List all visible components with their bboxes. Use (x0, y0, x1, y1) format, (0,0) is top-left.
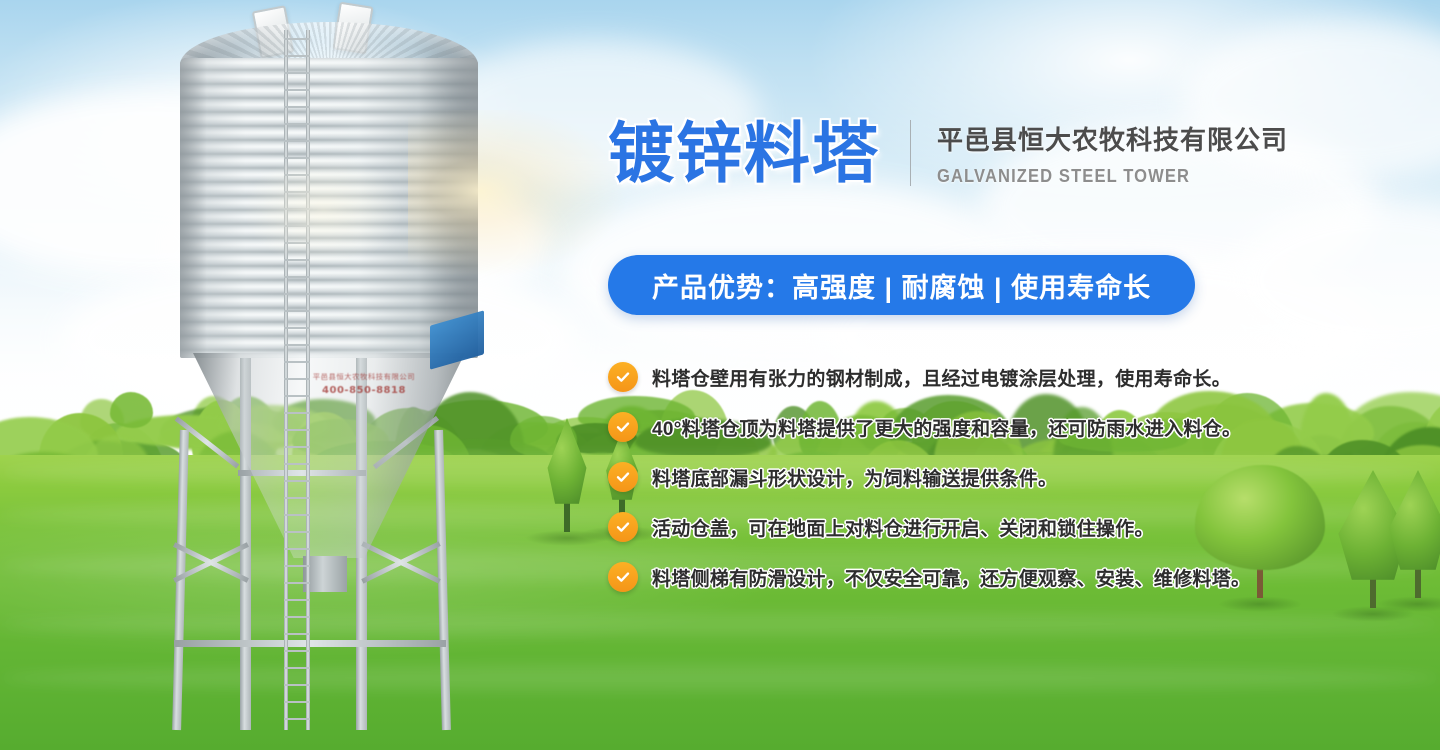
advantages-pill-text: 产品优势：高强度 | 耐腐蚀 | 使用寿命长 (652, 266, 1151, 305)
feature-item: 40°料塔仓顶为料塔提供了更大的强度和容量，还可防雨水进入料仓。 (608, 402, 1308, 452)
feature-text: 40°料塔仓顶为料塔提供了更大的强度和容量，还可防雨水进入料仓。 (652, 414, 1241, 441)
check-circle-icon (608, 362, 638, 392)
feature-list: 料塔仓壁用有张力的钢材制成，且经过电镀涂层处理，使用寿命长。40°料塔仓顶为料塔… (608, 352, 1308, 602)
feature-item: 料塔底部漏斗形状设计，为饲料输送提供条件。 (608, 452, 1308, 502)
hero-banner: 平邑县恒大农牧科技有限公司 400-850-8818 镀锌料塔 平邑县恒大农牧科… (0, 0, 1440, 750)
banner-content: 镀锌料塔 平邑县恒大农牧科技有限公司 GALVANIZED STEEL TOWE… (0, 0, 1440, 750)
feature-item: 料塔侧梯有防滑设计，不仅安全可靠，还方便观察、安装、维修料塔。 (608, 552, 1308, 602)
page-title: 镀锌料塔 (608, 120, 880, 186)
feature-text: 料塔侧梯有防滑设计，不仅安全可靠，还方便观察、安装、维修料塔。 (652, 564, 1250, 591)
title-divider (910, 120, 911, 186)
feature-item: 料塔仓壁用有张力的钢材制成，且经过电镀涂层处理，使用寿命长。 (608, 352, 1308, 402)
feature-text: 活动仓盖，可在地面上对料仓进行开启、关闭和锁住操作。 (652, 514, 1154, 541)
title-row: 镀锌料塔 平邑县恒大农牧科技有限公司 GALVANIZED STEEL TOWE… (608, 118, 1288, 187)
advantages-pill: 产品优势：高强度 | 耐腐蚀 | 使用寿命长 (608, 255, 1195, 315)
check-circle-icon (608, 412, 638, 442)
check-circle-icon (608, 512, 638, 542)
check-circle-icon (608, 562, 638, 592)
company-name: 平邑县恒大农牧科技有限公司 (937, 120, 1288, 157)
company-english-subtitle: GALVANIZED STEEL TOWER (937, 166, 1260, 187)
feature-text: 料塔仓壁用有张力的钢材制成，且经过电镀涂层处理，使用寿命长。 (652, 364, 1231, 391)
company-block: 平邑县恒大农牧科技有限公司 GALVANIZED STEEL TOWER (937, 118, 1288, 187)
check-circle-icon (608, 462, 638, 492)
feature-item: 活动仓盖，可在地面上对料仓进行开启、关闭和锁住操作。 (608, 502, 1308, 552)
feature-text: 料塔底部漏斗形状设计，为饲料输送提供条件。 (652, 464, 1057, 491)
